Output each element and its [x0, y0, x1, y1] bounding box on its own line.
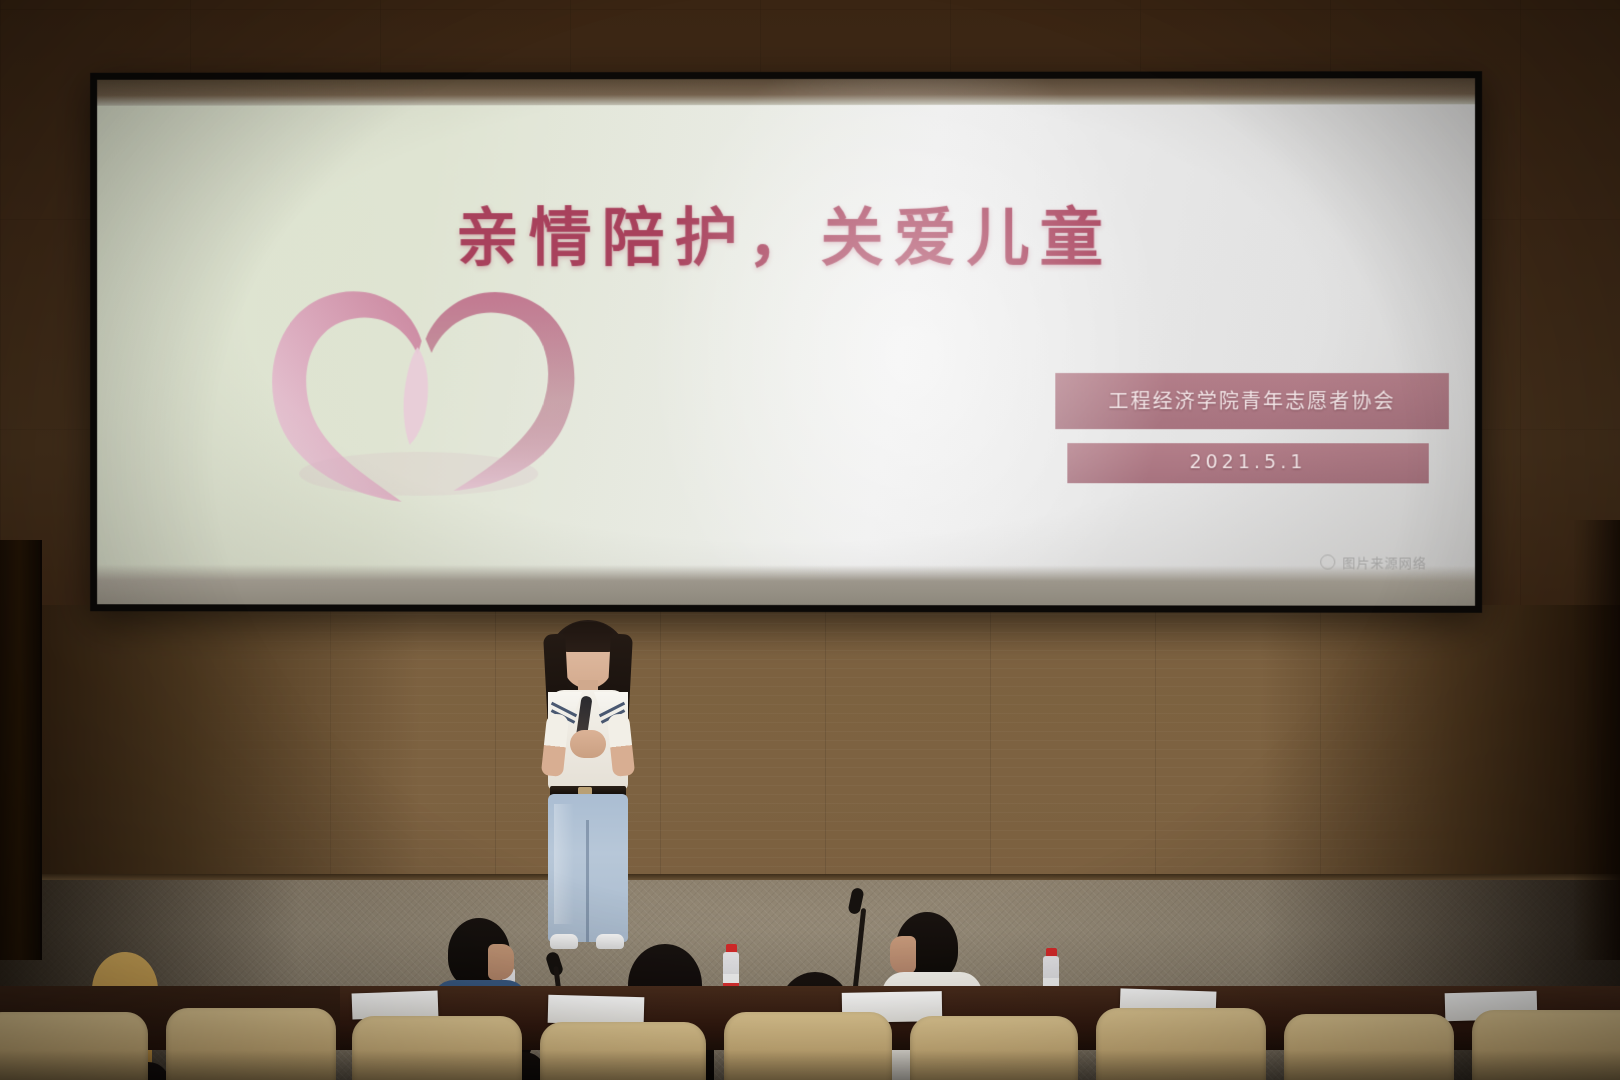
projection-screen: 亲情陪护，关爱儿童 工程经济学院青年志愿者协会 2021.5.1 图片来源网络 [90, 71, 1482, 613]
auditorium-seat [166, 1008, 336, 1080]
presenter-jeans-highlight [554, 804, 574, 924]
screen-glare [646, 78, 1170, 606]
ribbon-heart-icon [205, 259, 634, 509]
auditorium-seat [352, 1016, 522, 1080]
mid-wall-right-shadow [1260, 605, 1620, 885]
paper-sheet [548, 995, 645, 1026]
presenter-shoe-right [596, 934, 624, 949]
presenter-hands [570, 730, 606, 758]
presenter [518, 618, 658, 948]
presentation-scene: 亲情陪护，关爱儿童 工程经济学院青年志愿者协会 2021.5.1 图片来源网络 [0, 0, 1620, 1080]
auditorium-seat [910, 1016, 1078, 1080]
auditorium-seat [1472, 1010, 1620, 1080]
auditorium-seat [540, 1022, 706, 1080]
date-plaque: 2021.5.1 [1067, 443, 1428, 483]
left-door[interactable] [0, 540, 42, 960]
person-face [890, 936, 916, 974]
presenter-hair-top [560, 622, 616, 652]
auditorium-seat [1284, 1014, 1454, 1080]
auditorium-seat [0, 1012, 148, 1080]
auditorium-seat [1096, 1008, 1266, 1080]
auditorium-seat [724, 1012, 892, 1080]
right-door[interactable] [1574, 520, 1620, 960]
mid-wall-left-shadow [0, 605, 420, 885]
presenter-shoe-left [550, 934, 578, 949]
slide-title: 亲情陪护，关爱儿童 [97, 187, 1475, 279]
screen-bottom-band [97, 564, 1475, 605]
slide-surface: 亲情陪护，关爱儿童 工程经济学院青年志愿者协会 2021.5.1 图片来源网络 [97, 78, 1475, 606]
organization-plaque: 工程经济学院青年志愿者协会 [1055, 373, 1449, 429]
person-face [488, 944, 514, 980]
screen-top-band [97, 78, 1475, 106]
